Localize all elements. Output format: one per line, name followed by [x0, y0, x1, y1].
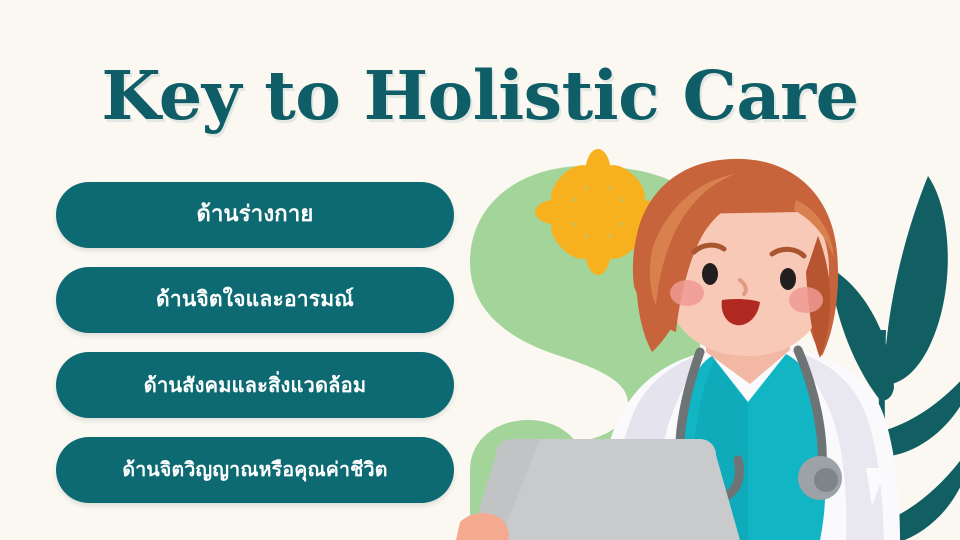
slide-canvas: Key to Holistic Care ด้านร่างกาย ด้านจิต…: [0, 0, 960, 540]
pill-button-social-environmental[interactable]: ด้านสังคมและสิ่งแวดล้อม: [56, 352, 454, 418]
face: [663, 212, 829, 356]
hair-back: [635, 159, 838, 356]
eye-left: [702, 263, 718, 285]
holistic-care-pill-list: ด้านร่างกาย ด้านจิตใจและอารมณ์ ด้านสังคม…: [56, 182, 454, 503]
eyebrow-right: [772, 249, 804, 256]
hair-side-shadow: [806, 236, 830, 358]
stethoscope: [680, 350, 823, 500]
nose: [740, 280, 746, 294]
stethoscope-diaphragm: [814, 468, 838, 492]
teal-leaf-branch-shape: [830, 176, 960, 540]
scrubs-top: [678, 354, 826, 540]
eyebrow-left: [694, 245, 724, 252]
pill-button-spiritual-life-value-label: ด้านจิตวิญญาณหรือคุณค่าชีวิต: [122, 458, 387, 481]
pill-button-mental-emotional[interactable]: ด้านจิตใจและอารมณ์: [56, 267, 454, 333]
pill-button-social-environmental-label: ด้านสังคมและสิ่งแวดล้อม: [144, 373, 366, 397]
doctor-character: [598, 159, 900, 540]
stethoscope-chestpiece: [798, 456, 842, 500]
mouth: [722, 299, 760, 325]
pill-button-spiritual-life-value[interactable]: ด้านจิตวิญญาณหรือคุณค่าชีวิต: [56, 437, 454, 503]
hair-front: [633, 159, 834, 332]
blush-right: [789, 287, 823, 313]
eye-right: [780, 268, 796, 290]
page-title: Key to Holistic Care: [0, 62, 960, 129]
laptop-lid: [470, 439, 740, 540]
pill-button-physical-label: ด้านร่างกาย: [197, 202, 314, 228]
pill-button-mental-emotional-label: ด้านจิตใจและอารมณ์: [156, 287, 354, 312]
green-organic-blob-shape: [470, 166, 700, 540]
hair-highlight-right: [794, 200, 834, 258]
pill-button-physical[interactable]: ด้านร่างกาย: [56, 182, 454, 248]
lab-coat: [598, 350, 900, 540]
blush-left: [670, 280, 704, 306]
hand: [456, 513, 509, 540]
hair-highlight: [650, 174, 736, 306]
yellow-flower-shape: [535, 149, 661, 275]
